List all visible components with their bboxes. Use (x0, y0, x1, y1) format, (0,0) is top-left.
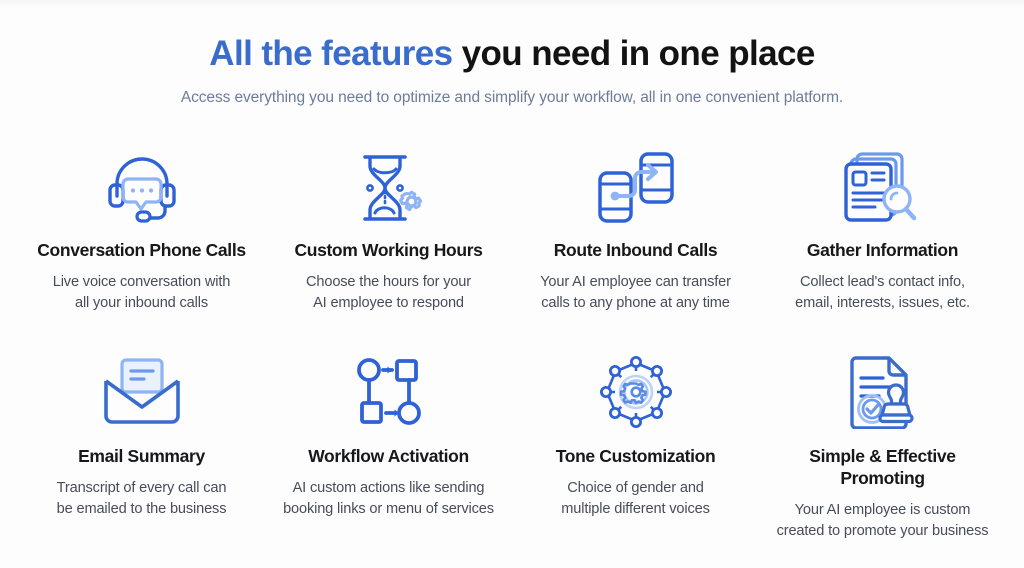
feature-description: Live voice conversation with all your in… (53, 272, 231, 314)
feature-title: Simple & Effective Promoting (809, 445, 955, 489)
feature-card[interactable]: Route Inbound Calls Your AI employee can… (512, 149, 759, 349)
open-envelope-icon (100, 351, 184, 433)
page-header: All the features you need in one place A… (0, 0, 1024, 109)
feature-description: AI custom actions like sending booking l… (283, 478, 494, 520)
page-title-rest: you need in one place (453, 34, 815, 73)
feature-card[interactable]: Conversation Phone Calls Live voice conv… (18, 149, 265, 349)
page-title-accent: All the features (209, 34, 452, 73)
documents-magnifier-icon (844, 149, 922, 227)
document-stamp-icon (844, 351, 922, 433)
workflow-nodes-icon (353, 351, 425, 433)
feature-description: Your AI employee is custom created to pr… (777, 500, 989, 542)
page-subtitle: Access everything you need to optimize a… (0, 87, 1024, 109)
feature-card[interactable]: Email Summary Transcript of every call c… (18, 351, 265, 551)
feature-title: Custom Working Hours (294, 239, 482, 261)
feature-title: Conversation Phone Calls (37, 239, 245, 261)
features-page: All the features you need in one place A… (0, 0, 1024, 568)
feature-description: Transcript of every call can be emailed … (57, 478, 227, 520)
feature-card[interactable]: Gather Information Collect lead's contac… (759, 149, 1006, 349)
feature-card[interactable]: Tone Customization Choice of gender and … (512, 351, 759, 551)
feature-title: Route Inbound Calls (554, 239, 717, 261)
feature-description: Your AI employee can transfer calls to a… (540, 272, 731, 314)
feature-description: Choice of gender and multiple different … (561, 478, 709, 520)
feature-description: Collect lead's contact info, email, inte… (795, 272, 970, 314)
top-edge-strip (0, 0, 1024, 9)
feature-title: Email Summary (78, 445, 205, 467)
page-title: All the features you need in one place (0, 32, 1024, 76)
feature-card[interactable]: Custom Working Hours Choose the hours fo… (265, 149, 512, 349)
phone-transfer-icon (596, 149, 676, 227)
feature-title: Gather Information (807, 239, 958, 261)
feature-title: Workflow Activation (308, 445, 469, 467)
feature-grid: Conversation Phone Calls Live voice conv… (0, 149, 1024, 551)
feature-card[interactable]: Simple & Effective Promoting Your AI emp… (759, 351, 1006, 551)
headset-chat-icon (103, 149, 181, 227)
hourglass-gear-icon (353, 149, 425, 227)
feature-title: Tone Customization (556, 445, 716, 467)
network-gear-icon (598, 351, 674, 433)
feature-card[interactable]: Workflow Activation AI custom actions li… (265, 351, 512, 551)
feature-description: Choose the hours for your AI employee to… (306, 272, 471, 314)
